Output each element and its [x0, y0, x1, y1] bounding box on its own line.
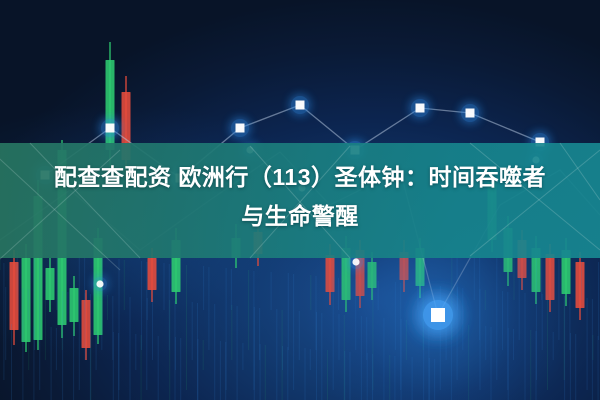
page-title: 配查查配资 欧洲行（113）圣体钟：时间吞噬者 与生命警醒 [0, 158, 600, 236]
title-line-1: 配查查配资 欧洲行（113）圣体钟：时间吞噬者 [0, 158, 600, 197]
title-line-2: 与生命警醒 [0, 197, 600, 236]
banner-image: 配查查配资 欧洲行（113）圣体钟：时间吞噬者 与生命警醒 [0, 0, 600, 400]
